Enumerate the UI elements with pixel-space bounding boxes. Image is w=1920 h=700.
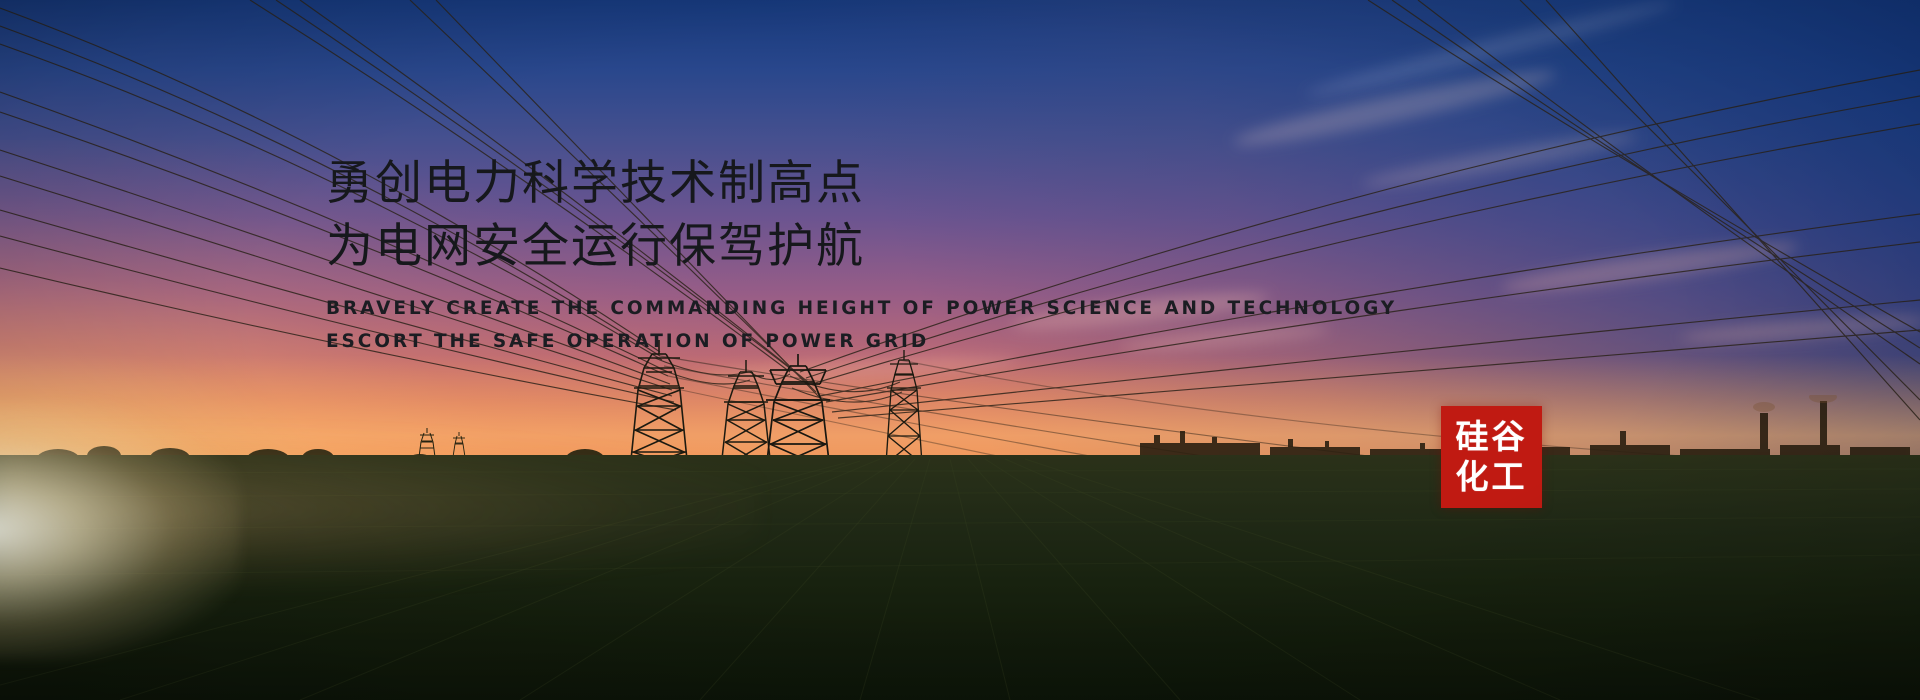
subhead-en-line-2: ESCORT THE SAFE OPERATION OF POWER GRID xyxy=(326,325,1226,358)
headline-cn-line-2: 为电网安全运行保驾护航 xyxy=(326,215,1226,278)
hero-copy: 勇创电力科学技术制高点 为电网安全运行保驾护航 BRAVELY CREATE T… xyxy=(326,152,1226,358)
subhead-en-block: BRAVELY CREATE THE COMMANDING HEIGHT OF … xyxy=(326,292,1226,358)
subhead-en-line-1: BRAVELY CREATE THE COMMANDING HEIGHT OF … xyxy=(326,292,1226,325)
transmission-tower-icon xyxy=(884,348,924,466)
sun-icon xyxy=(0,400,240,660)
transmission-tower-icon xyxy=(762,352,834,472)
seal-logo[interactable]: 硅谷 化工 xyxy=(1441,406,1542,508)
seal-logo-line-2: 化工 xyxy=(1456,457,1528,497)
headline-cn-line-1: 勇创电力科学技术制高点 xyxy=(326,152,1226,215)
seal-logo-line-1: 硅谷 xyxy=(1456,417,1528,457)
hero-banner: 勇创电力科学技术制高点 为电网安全运行保驾护航 BRAVELY CREATE T… xyxy=(0,0,1920,700)
